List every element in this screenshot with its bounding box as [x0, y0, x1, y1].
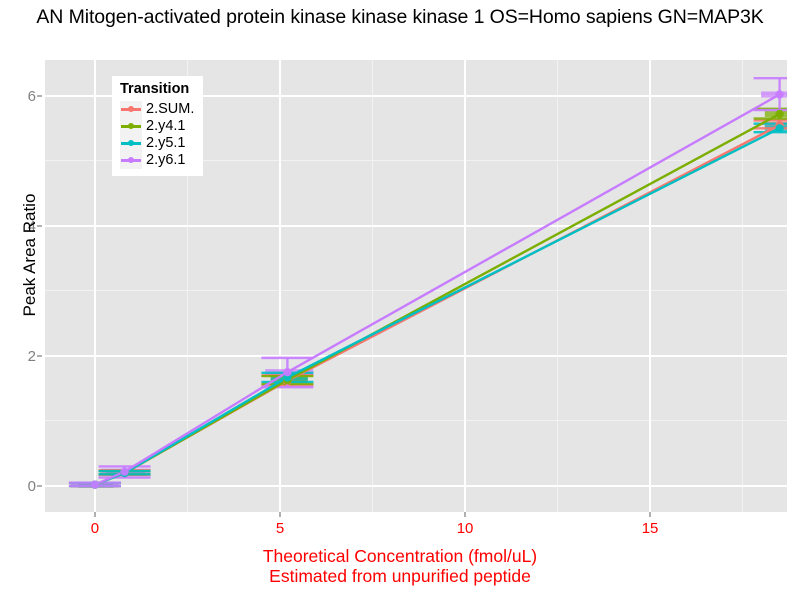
- data-point: [775, 124, 783, 132]
- y-axis-tick-label: 6: [6, 89, 36, 104]
- x-axis-label: Theoretical Concentration (fmol/uL) Esti…: [0, 547, 800, 586]
- x-axis-label-line1: Theoretical Concentration (fmol/uL): [0, 547, 800, 567]
- series-line-2.y5.1: [95, 128, 780, 484]
- legend-item-2.SUM.[interactable]: 2.SUM.: [120, 101, 194, 118]
- legend-items: 2.SUM.2.y4.12.y5.12.y6.1: [120, 101, 194, 169]
- legend-item-2.y4.1[interactable]: 2.y4.1: [120, 118, 194, 135]
- legend-point-swatch: [128, 106, 134, 112]
- data-point: [91, 480, 99, 488]
- legend-item-2.y6.1[interactable]: 2.y6.1: [120, 152, 194, 169]
- data-point: [775, 110, 783, 118]
- x-axis-tick-mark: [464, 512, 466, 517]
- legend-item-label: 2.y6.1: [146, 153, 186, 168]
- x-axis-tick-mark: [649, 512, 651, 517]
- page-title: AN Mitogen-activated protein kinase kina…: [0, 6, 800, 29]
- legend-item-label: 2.y5.1: [146, 136, 186, 151]
- y-axis-tick-mark: [37, 485, 42, 487]
- x-axis-tick-mark: [279, 512, 281, 517]
- data-point: [775, 90, 783, 98]
- legend-key-icon: [120, 135, 142, 152]
- x-axis-label-line2: Estimated from unpurified peptide: [0, 567, 800, 587]
- y-axis-label: Peak Area Ratio: [20, 145, 40, 365]
- y-axis-tick-label: 0: [6, 479, 36, 494]
- x-axis-tick-label: 15: [630, 521, 670, 536]
- legend-item-2.y5.1[interactable]: 2.y5.1: [120, 135, 194, 152]
- x-axis-tick-label: 10: [445, 521, 485, 536]
- data-point: [120, 467, 128, 475]
- x-axis-tick-label: 0: [75, 521, 115, 536]
- legend-item-label: 2.SUM.: [146, 102, 194, 117]
- legend-point-swatch: [128, 157, 134, 163]
- legend-point-swatch: [128, 140, 134, 146]
- data-point: [283, 368, 291, 376]
- legend-title: Transition: [120, 82, 194, 98]
- legend-key-icon: [120, 101, 142, 118]
- legend-item-label: 2.y4.1: [146, 119, 186, 134]
- legend: Transition 2.SUM.2.y4.12.y5.12.y6.1: [112, 76, 203, 176]
- chart-canvas: AN Mitogen-activated protein kinase kina…: [0, 0, 800, 600]
- legend-point-swatch: [128, 123, 134, 129]
- legend-key-icon: [120, 118, 142, 135]
- x-axis-tick-label: 5: [260, 521, 300, 536]
- legend-key-icon: [120, 152, 142, 169]
- y-axis-tick-mark: [37, 95, 42, 97]
- x-axis-tick-mark: [94, 512, 96, 517]
